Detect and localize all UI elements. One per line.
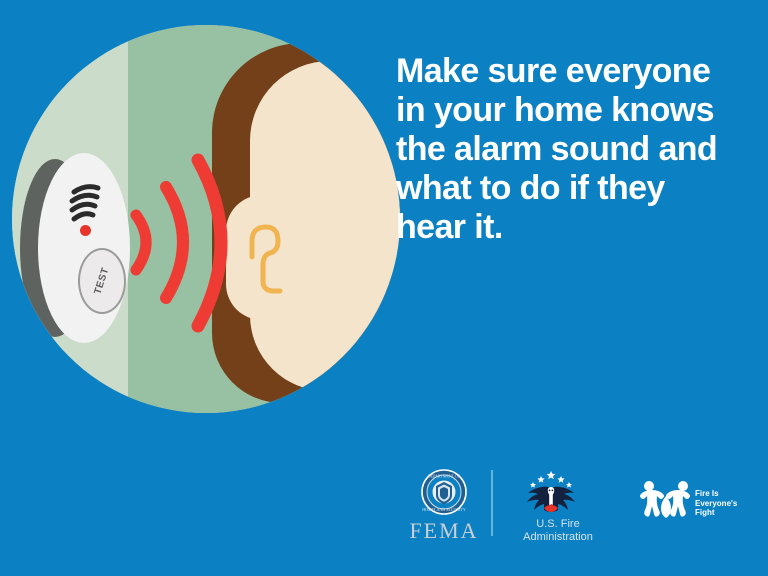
fire-is-everyones-fight-wordmark: Fire Is Everyone's Fight [695,489,765,518]
fema-wordmark: FEMA [396,518,492,544]
dhs-seal-icon: DEPARTMENT OF HOMELAND SECURITY [396,468,492,520]
page-title: Make sure everyone in your home knows th… [396,52,746,247]
ear-inner-detail [244,215,288,305]
poster-canvas: TEST Make sure everyone in your home kno… [0,0,768,576]
feef-line-3: Fight [695,508,765,518]
alarm-led-indicator [80,225,91,236]
illustration-circle: TEST [12,25,400,413]
fema-logo: DEPARTMENT OF HOMELAND SECURITY FEMA [396,468,492,548]
svg-text:HOMELAND SECURITY: HOMELAND SECURITY [422,507,466,512]
feef-line-2: Everyone's [695,499,765,509]
logo-divider [491,470,493,536]
headline-line-4: what to do if they [396,169,746,208]
us-fire-administration-logo: U.S. Fire Administration [503,468,599,552]
logo-bar: DEPARTMENT OF HOMELAND SECURITY FEMA [388,468,758,552]
fire-is-everyones-fight-logo: Fire Is Everyone's Fight [638,476,758,532]
sound-waves-icon [122,140,242,345]
alarm-test-button[interactable]: TEST [78,248,126,314]
usfa-line-2: Administration [503,531,613,544]
alarm-grille-icon [68,178,108,226]
two-figures-icon [638,476,694,528]
svg-text:DEPARTMENT OF: DEPARTMENT OF [428,474,461,479]
headline-line-2: in your home knows [396,91,746,130]
headline-line-3: the alarm sound and [396,130,746,169]
usfa-line-1: U.S. Fire [503,518,613,531]
feef-line-1: Fire Is [695,489,765,499]
smoke-alarm-icon: TEST [20,153,135,343]
headline-line-1: Make sure everyone [396,52,746,91]
usfa-wordmark: U.S. Fire Administration [503,518,613,544]
usfa-eagle-icon [503,468,599,520]
headline-line-5: hear it. [396,208,746,247]
alarm-test-label: TEST [93,266,112,296]
